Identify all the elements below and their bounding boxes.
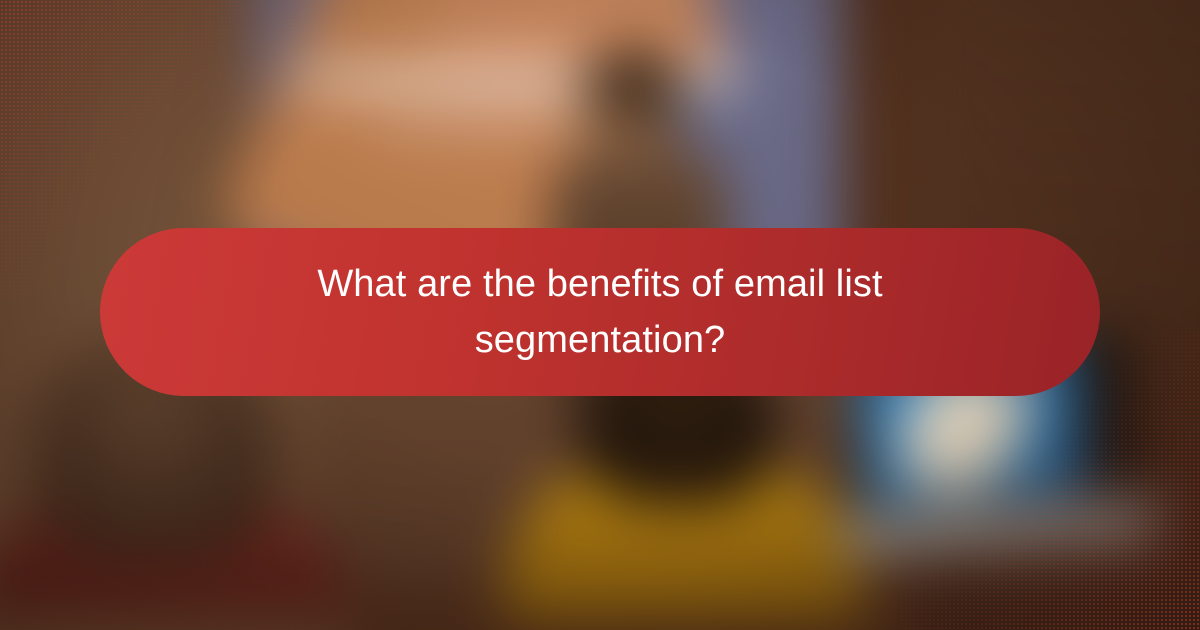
question-pill: What are the benefits of email list segm…	[100, 228, 1100, 396]
question-text: What are the benefits of email list segm…	[270, 256, 930, 368]
question-card: What are the benefits of email list segm…	[0, 0, 1200, 630]
